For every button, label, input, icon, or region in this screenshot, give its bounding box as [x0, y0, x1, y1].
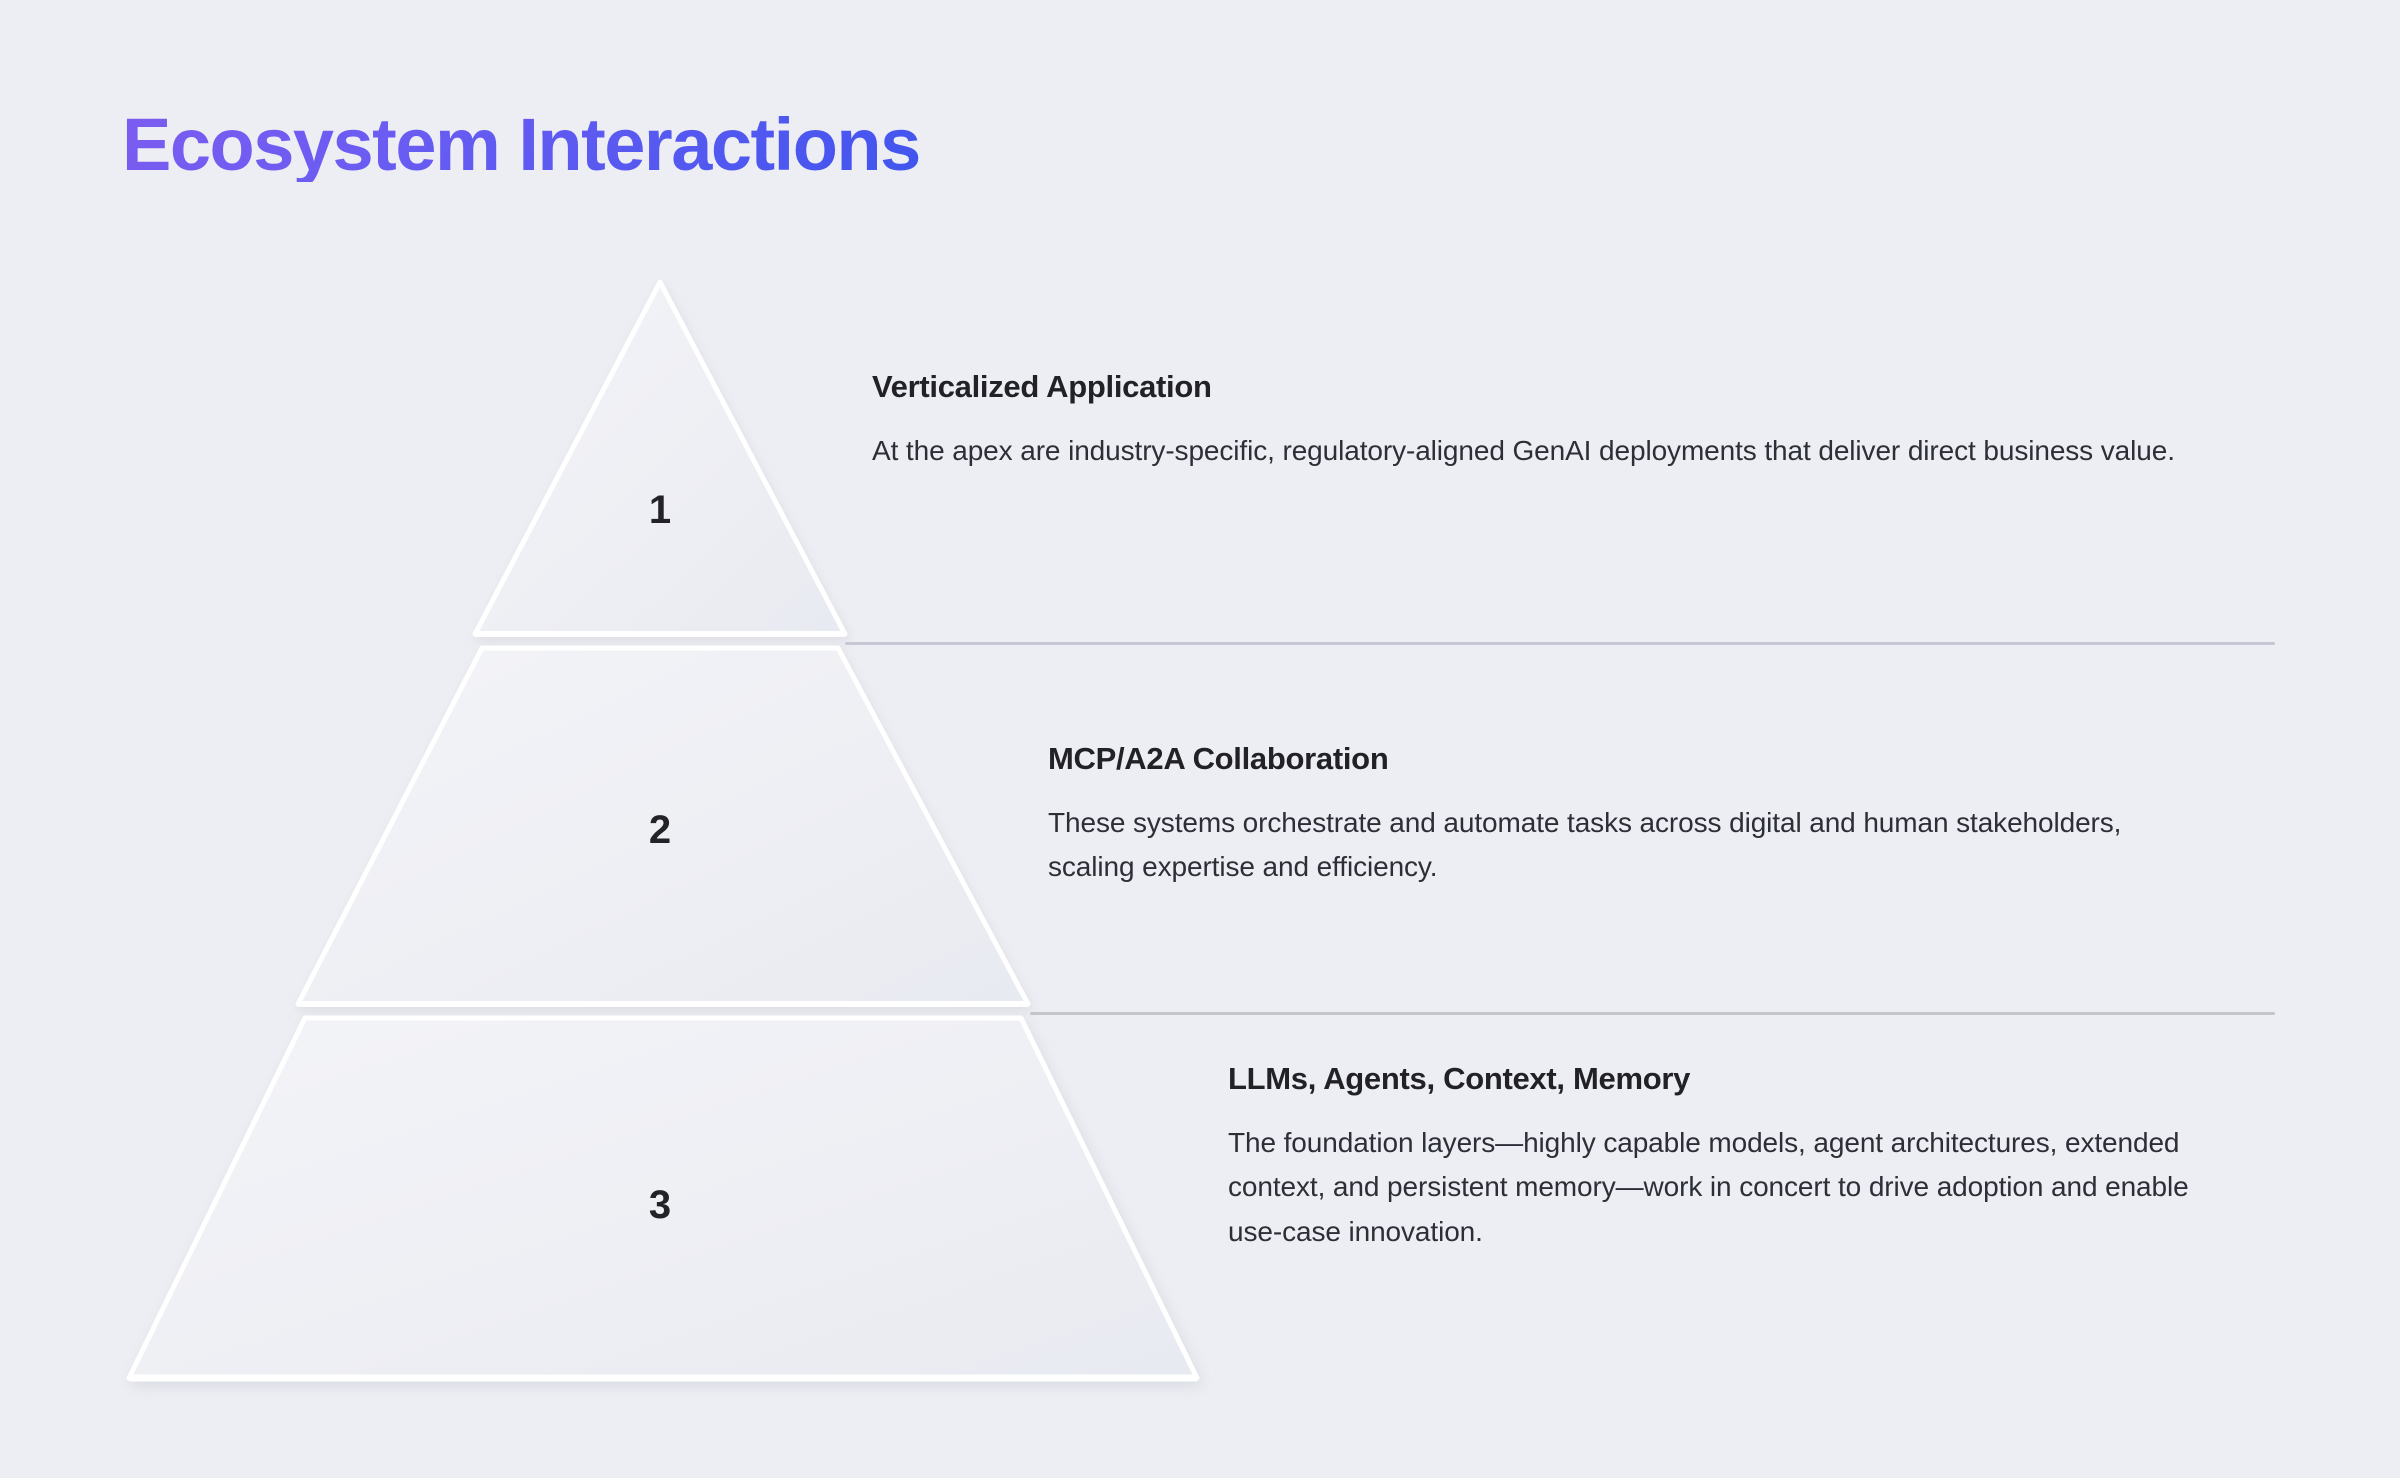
tier-divider-1 — [845, 642, 2275, 645]
pyramid-diagram — [0, 0, 1300, 1478]
tier-3-body: The foundation layers—highly capable mod… — [1228, 1121, 2238, 1254]
page-title: Ecosystem Interactions — [122, 108, 920, 182]
pyramid-tier-1 — [475, 282, 845, 634]
tier-1-heading: Verticalized Application — [872, 368, 2202, 405]
tier-2-content: MCP/A2A Collaboration These systems orch… — [1048, 740, 2208, 890]
tier-2-body: These systems orchestrate and automate t… — [1048, 801, 2208, 889]
tier-divider-2 — [1030, 1012, 2275, 1015]
pyramid-tier-3-number: 3 — [600, 1183, 720, 1228]
tier-1-content: Verticalized Application At the apex are… — [872, 368, 2202, 473]
tier-3-heading: LLMs, Agents, Context, Memory — [1228, 1060, 2238, 1097]
pyramid-tier-2-number: 2 — [600, 808, 720, 853]
slide-canvas: Ecosystem Interactions — [0, 0, 2400, 1478]
pyramid-tier-1-number: 1 — [600, 488, 720, 533]
tier-2-heading: MCP/A2A Collaboration — [1048, 740, 2208, 777]
tier-1-body: At the apex are industry-specific, regul… — [872, 429, 2202, 473]
tier-3-content: LLMs, Agents, Context, Memory The founda… — [1228, 1060, 2238, 1254]
